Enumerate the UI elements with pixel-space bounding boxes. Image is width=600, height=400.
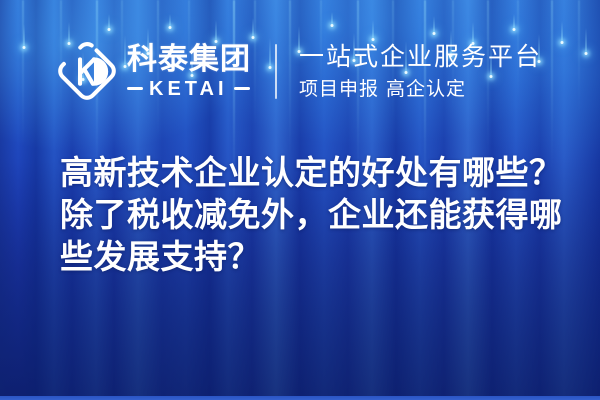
tagline-primary: 一站式企业服务平台: [299, 42, 542, 72]
brand-text: 科泰集团 KETAI: [127, 44, 251, 99]
brand-name-en-row: KETAI: [127, 79, 251, 99]
headline-line-3: 些发展支持？: [60, 236, 560, 278]
banner-header: 科泰集团 KETAI 一站式企业服务平台 项目申报 高企认定: [0, 30, 600, 112]
brand-lockup: 科泰集团 KETAI: [58, 42, 251, 100]
headline-block: 高新技术企业认定的好处有哪些？ 除了税收减免外，企业还能获得哪 些发展支持？: [60, 152, 560, 278]
brand-name-cn: 科泰集团: [127, 44, 251, 76]
headline-line-1: 高新技术企业认定的好处有哪些？: [60, 152, 560, 194]
header-divider: [275, 44, 277, 99]
ketai-logo-icon: [58, 42, 116, 100]
brand-rule-right: [234, 87, 250, 90]
bottom-edge-strip: [0, 396, 600, 400]
brand-rule-left: [127, 87, 143, 90]
ketai-diamond-monogram-icon: [58, 42, 116, 100]
tagline-block: 一站式企业服务平台 项目申报 高企认定: [299, 42, 542, 101]
tagline-secondary: 项目申报 高企认定: [299, 77, 542, 101]
brand-name-en: KETAI: [149, 79, 228, 99]
headline-line-2: 除了税收减免外，企业还能获得哪: [60, 194, 560, 236]
promo-banner: 科泰集团 KETAI 一站式企业服务平台 项目申报 高企认定 高新技术企业认定的…: [0, 0, 600, 400]
